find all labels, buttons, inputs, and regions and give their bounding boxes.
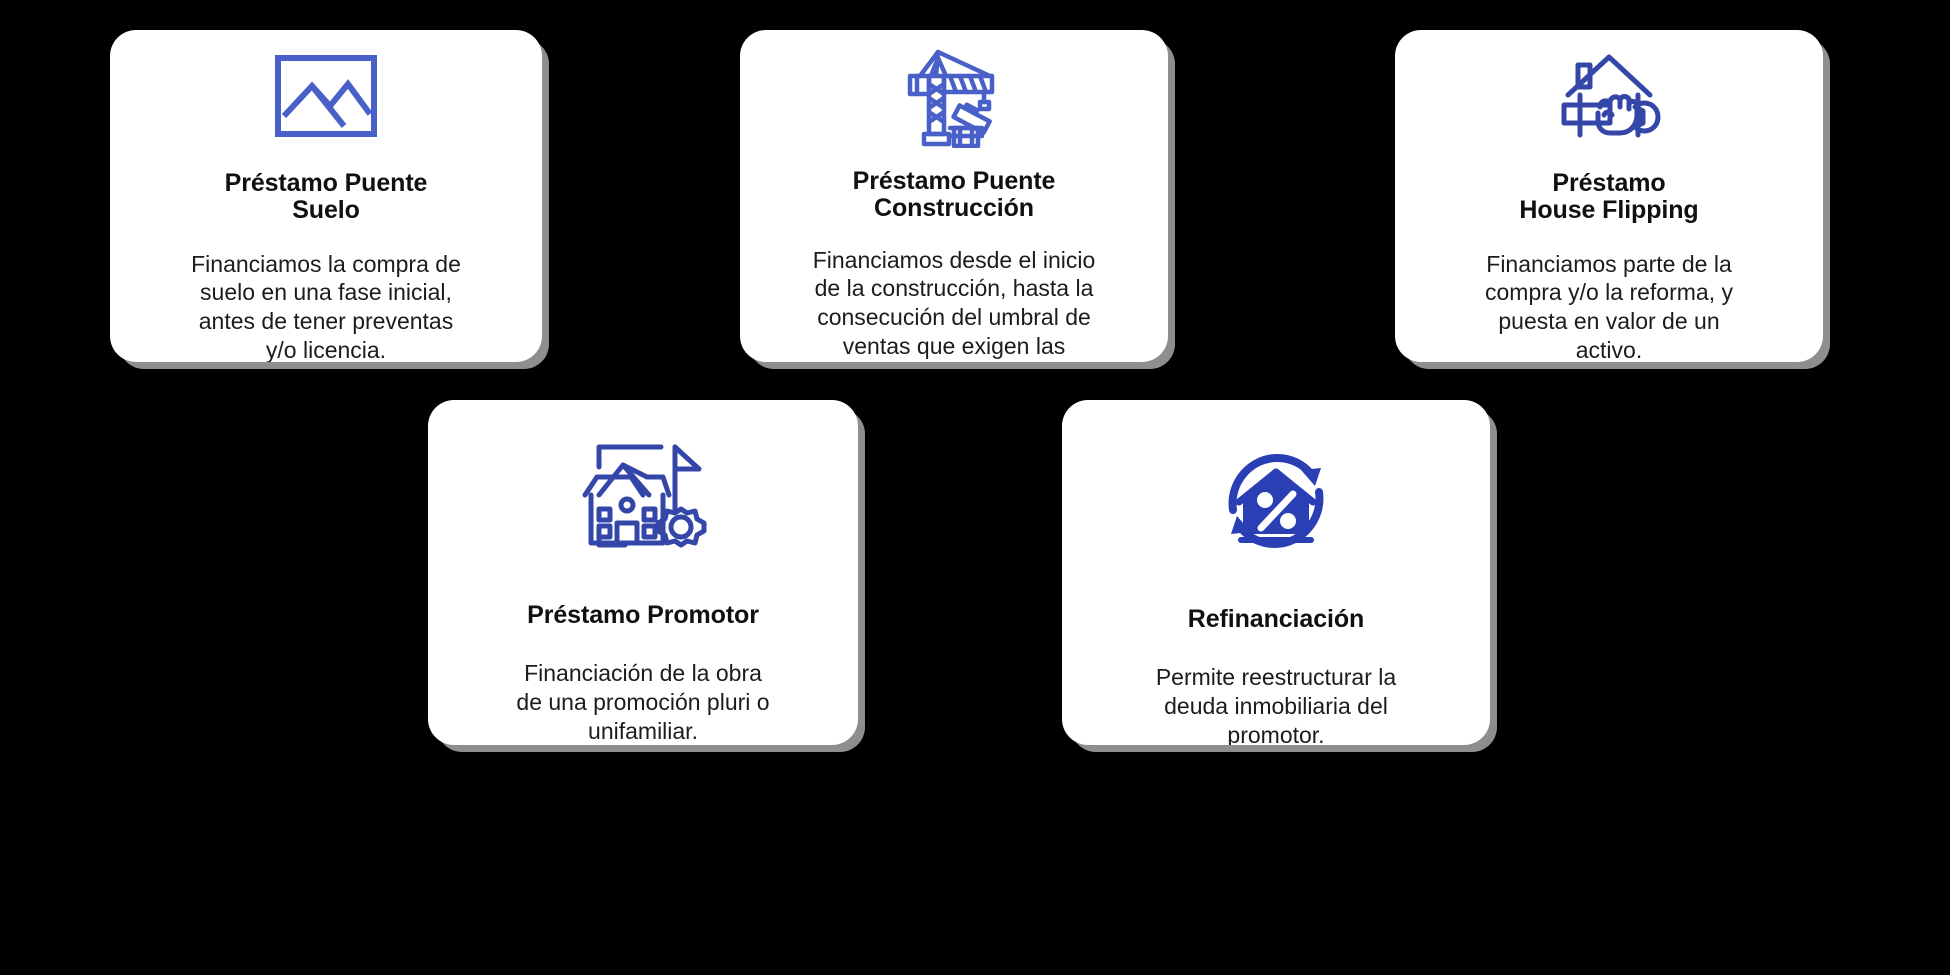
card-description: Financiación de la obra de una promoción… (493, 659, 793, 745)
card-title: Préstamo Puente Construcción (837, 168, 1072, 222)
card-description: Financiamos parte de la compra y/o la re… (1449, 250, 1769, 363)
house-flag-gear-icon (428, 428, 858, 560)
card-board: Préstamo Puente Suelo Financiamos la com… (0, 0, 1950, 975)
card-prestamo-puente-construccion[interactable]: Préstamo Puente Construcción Financiamos… (740, 30, 1168, 362)
card-prestamo-puente-suelo[interactable]: Préstamo Puente Suelo Financiamos la com… (110, 30, 542, 362)
card-refinanciacion[interactable]: Refinanciación Permite reestructurar la … (1062, 400, 1490, 745)
house-hand-wrench-icon (1395, 38, 1823, 148)
card-description: Financiamos la compra de suelo en una fa… (161, 250, 491, 363)
card-title: Préstamo Promotor (511, 602, 775, 629)
card-title: Refinanciación (1172, 606, 1380, 633)
card-description: Financiamos desde el inicio de la constr… (780, 246, 1128, 363)
card-description: Permite reestructurar la deuda inmobilia… (1131, 663, 1421, 745)
card-title: Préstamo House Flipping (1503, 170, 1714, 224)
house-percent-refresh-icon (1062, 438, 1490, 564)
landscape-mountains-icon (110, 44, 542, 148)
construction-crane-icon (740, 36, 1168, 148)
card-prestamo-house-flipping[interactable]: Préstamo House Flipping Financiamos part… (1395, 30, 1823, 362)
card-title: Préstamo Puente Suelo (209, 170, 444, 224)
card-prestamo-promotor[interactable]: Préstamo Promotor Financiación de la obr… (428, 400, 858, 745)
